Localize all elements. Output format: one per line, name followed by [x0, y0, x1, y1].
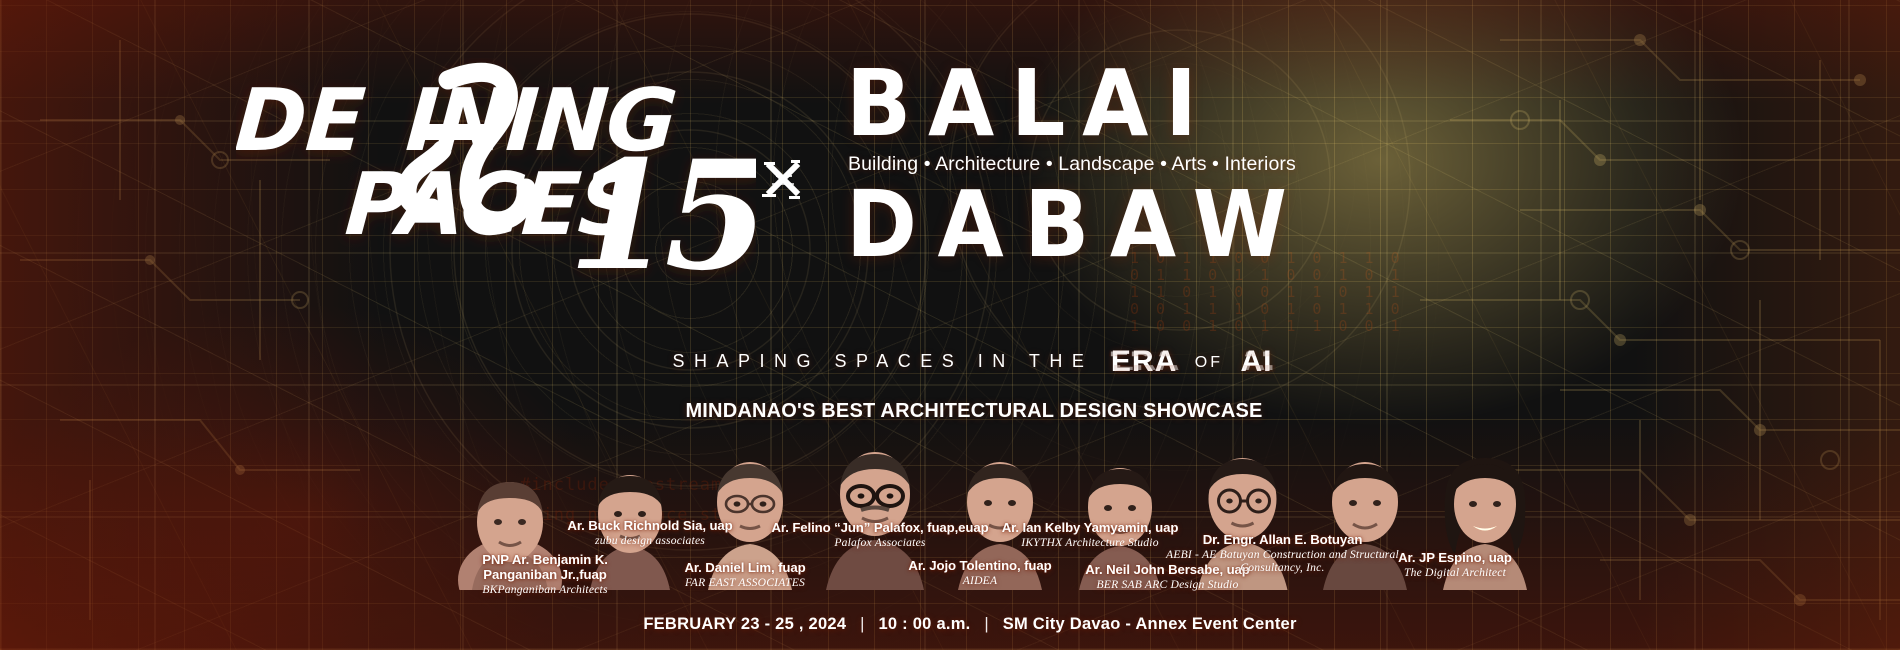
title-dabaw: DABAW	[846, 183, 1283, 268]
svg-text:15: 15	[568, 128, 756, 288]
balai-dabaw-title: BALAI Building • Architecture • Landscap…	[846, 62, 1316, 267]
title-balai: BALAI	[846, 62, 1283, 147]
speaker-name: Ar. Buck Richnold Sia, uap	[535, 518, 765, 533]
tagline-prefix: SHAPING SPACES IN THE	[673, 351, 1094, 371]
svg-text:DEFINING: DEFINING	[236, 58, 312, 62]
speakers-row: PNP Ar. Benjamin K. Panganiban Jr.,fuap …	[0, 420, 1900, 590]
footer-separator-2: |	[984, 615, 989, 633]
event-details-footer: FEBRUARY 23 - 25 , 2024 | 10 : 00 a.m. |…	[0, 615, 1900, 634]
svg-text:15: 15	[236, 58, 254, 62]
speaker-label-1: Ar. Buck Richnold Sia, uap zubu design a…	[535, 518, 765, 547]
event-banner: #include <iostream> using namespace std;…	[0, 0, 1900, 650]
svg-text:SPACES: SPACES	[236, 58, 300, 62]
tagline-era: ERA	[1111, 345, 1177, 379]
defining-spaces-logo: DE INING PACES 15 DEFINING SPACES 15	[236, 58, 756, 288]
tagline-ai: AI	[1241, 345, 1273, 379]
speaker-label-8: Ar. JP Espino, uap The Digital Architect	[1350, 550, 1560, 579]
speaker-label-2: Ar. Daniel Lim, fuap FAR EAST ASSOCIATES	[640, 560, 850, 589]
speaker-firm: The Digital Architect	[1350, 566, 1560, 579]
speaker-label-0: PNP Ar. Benjamin K. Panganiban Jr.,fuap …	[450, 552, 640, 596]
tagline-of: OF	[1195, 354, 1223, 371]
speaker-name: Ar. JP Espino, uap	[1350, 550, 1560, 565]
speaker-name: PNP Ar. Benjamin K. Panganiban Jr.,fuap	[450, 552, 640, 582]
speaker-name: Dr. Engr. Allan E. Botuyan	[1145, 532, 1420, 547]
speaker-name: Ar. Daniel Lim, fuap	[640, 560, 850, 575]
speaker-firm: BER SAB ARC Design Studio	[1045, 578, 1290, 591]
tagline: SHAPING SPACES IN THE ERA OF AI	[0, 345, 1900, 379]
speaker-firm: FAR EAST ASSOCIATES	[640, 576, 850, 589]
event-venue: SM City Davao - Annex Event Center	[1003, 615, 1297, 633]
svg-text:DE: DE	[236, 71, 367, 171]
speaker-firm: BKPanganiban Architects	[450, 583, 640, 596]
footer-separator-1: |	[860, 615, 865, 633]
speaker-firm: zubu design associates	[535, 534, 765, 547]
event-time: 10 : 00 a.m.	[878, 615, 970, 633]
glitch-x-icon	[756, 150, 810, 204]
event-date: FEBRUARY 23 - 25 , 2024	[643, 615, 846, 633]
